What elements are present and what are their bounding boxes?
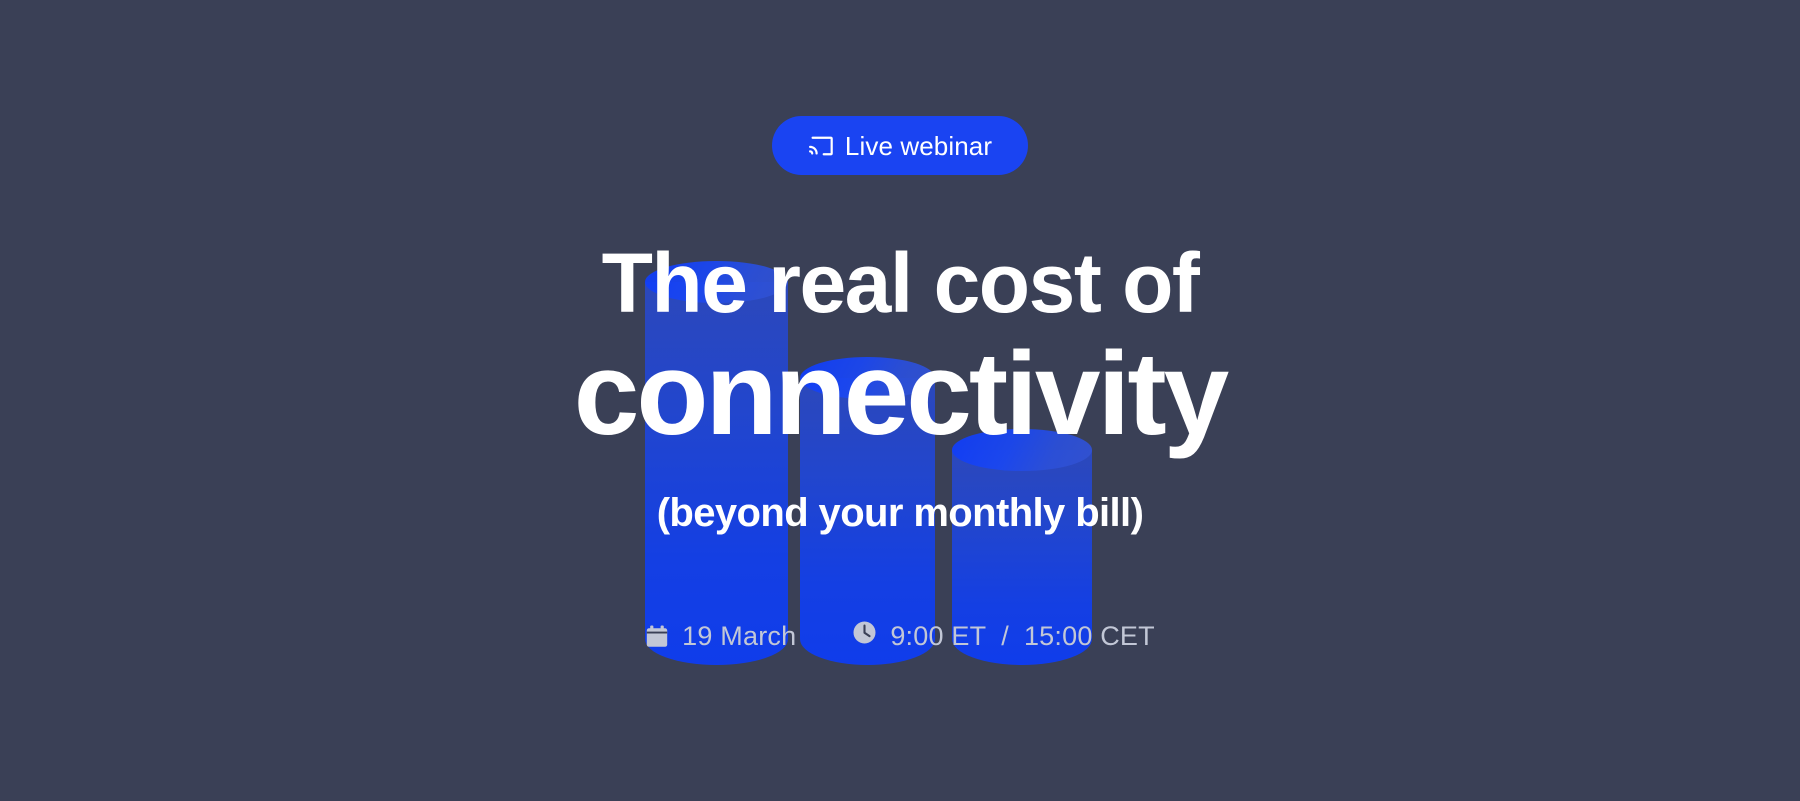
event-date: 19 March <box>645 621 796 652</box>
event-details: 19 March 9:00 ET / 15:00 CET <box>645 620 1155 652</box>
event-date-label: 19 March <box>682 621 796 652</box>
event-time-start: 9:00 ET <box>890 621 986 652</box>
live-webinar-badge[interactable]: Live webinar <box>772 116 1028 175</box>
headline-line-1: The real cost of <box>574 240 1227 327</box>
cast-screen-icon <box>808 135 834 157</box>
calendar-icon <box>645 624 669 649</box>
webinar-hero-banner: Live webinar The real cost of connectivi… <box>0 0 1800 801</box>
clock-icon <box>852 620 877 652</box>
live-webinar-badge-label: Live webinar <box>845 133 992 159</box>
event-time: 9:00 ET / 15:00 CET <box>852 620 1155 652</box>
headline-line-2: connectivity <box>574 335 1227 453</box>
event-time-end: 15:00 CET <box>1024 621 1155 652</box>
hero-content: Live webinar The real cost of connectivi… <box>0 0 1800 801</box>
headline-subtitle: (beyond your monthly bill) <box>657 491 1144 536</box>
event-time-separator: / <box>999 621 1011 652</box>
page-title: The real cost of connectivity <box>574 175 1227 453</box>
